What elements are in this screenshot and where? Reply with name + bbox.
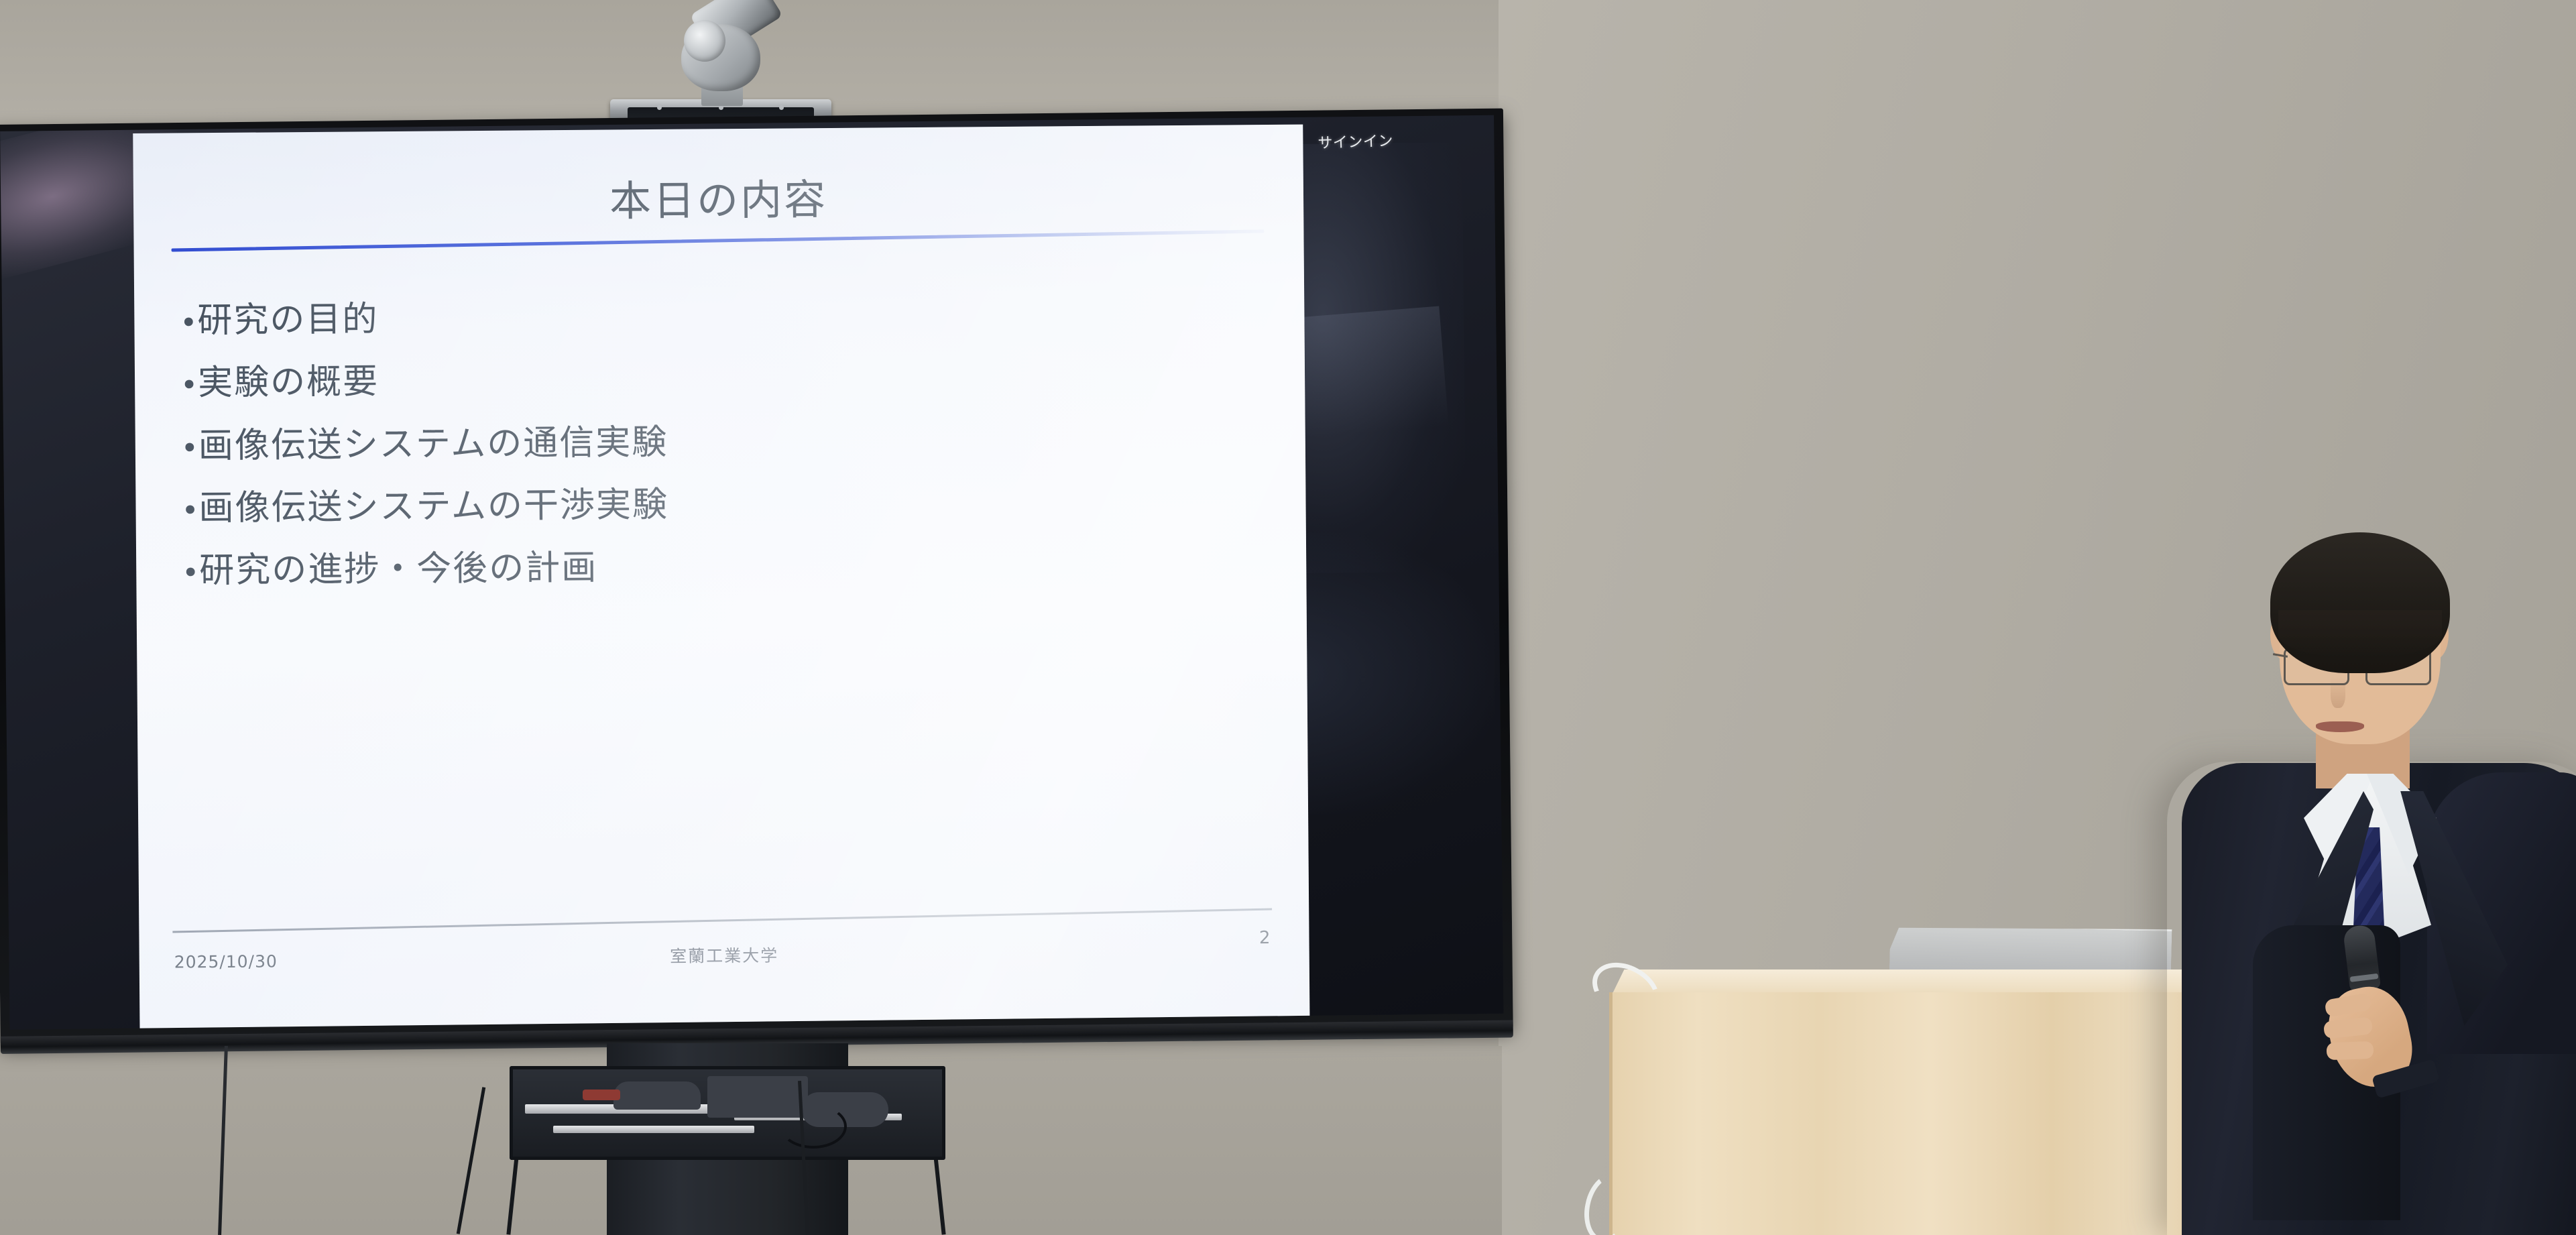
shelf-red-marker: [583, 1090, 620, 1100]
presenter-hair-fringe: [2278, 610, 2442, 658]
bullet-text: 画像伝送システムの通信実験: [198, 422, 668, 467]
shelf-device: [613, 1081, 701, 1110]
presenter-mouth: [2316, 721, 2364, 732]
bullet-marker-icon: •: [180, 300, 197, 338]
camera-indicator-dot: [657, 105, 662, 110]
coiled-cable: [780, 1104, 847, 1149]
camera-lens-icon: [684, 20, 725, 62]
camera-indicator-dot: [779, 105, 784, 110]
slide-footer-organization: 室蘭工業大学: [139, 939, 1309, 972]
list-item: • 研究の目的: [180, 292, 1266, 342]
slide-page-number: 2: [1259, 928, 1271, 948]
podium-front-panel: [1609, 992, 2223, 1235]
title-underline: [172, 229, 1265, 251]
list-item: • 研究の進捗・今後の計画: [182, 542, 1268, 592]
slide-bullet-list: • 研究の目的 • 実験の概要 • 画像伝送システムの通信実験 • 画像伝送シス…: [180, 292, 1269, 613]
bullet-marker-icon: •: [182, 551, 199, 589]
signin-label[interactable]: サインイン: [1318, 129, 1393, 153]
presentation-room-scene: サインイン 本日の内容 • 研究の目的 • 実験の概要: [0, 0, 2576, 1235]
bullet-text: 画像伝送システムの干渉実験: [198, 485, 668, 530]
television-display[interactable]: サインイン 本日の内容 • 研究の目的 • 実験の概要: [0, 109, 1513, 1045]
tv-screen[interactable]: サインイン 本日の内容 • 研究の目的 • 実験の概要: [0, 115, 1503, 1030]
camera-indicator-dot: [719, 105, 723, 110]
list-item: • 画像伝送システムの通信実験: [181, 418, 1267, 467]
bullet-marker-icon: •: [181, 426, 198, 463]
av-equipment-shelf: [510, 1066, 945, 1160]
slide-title: 本日の内容: [133, 162, 1304, 231]
presentation-slide[interactable]: 本日の内容 • 研究の目的 • 実験の概要 • 画像伝送システムの通信実験: [133, 125, 1309, 1029]
presenter-finger: [2327, 1041, 2374, 1060]
bullet-text: 研究の目的: [197, 299, 378, 341]
bullet-marker-icon: •: [181, 488, 198, 526]
bullet-text: 研究の進捗・今後の計画: [199, 548, 597, 592]
list-item: • 画像伝送システムの干渉実験: [181, 480, 1267, 530]
presenter: [2172, 510, 2576, 1235]
bullet-text: 実験の概要: [198, 362, 379, 404]
bullet-marker-icon: •: [180, 363, 198, 401]
slide-footer-rule: [172, 908, 1272, 933]
shelf-cable-white: [553, 1126, 754, 1133]
list-item: • 実験の概要: [180, 355, 1267, 404]
